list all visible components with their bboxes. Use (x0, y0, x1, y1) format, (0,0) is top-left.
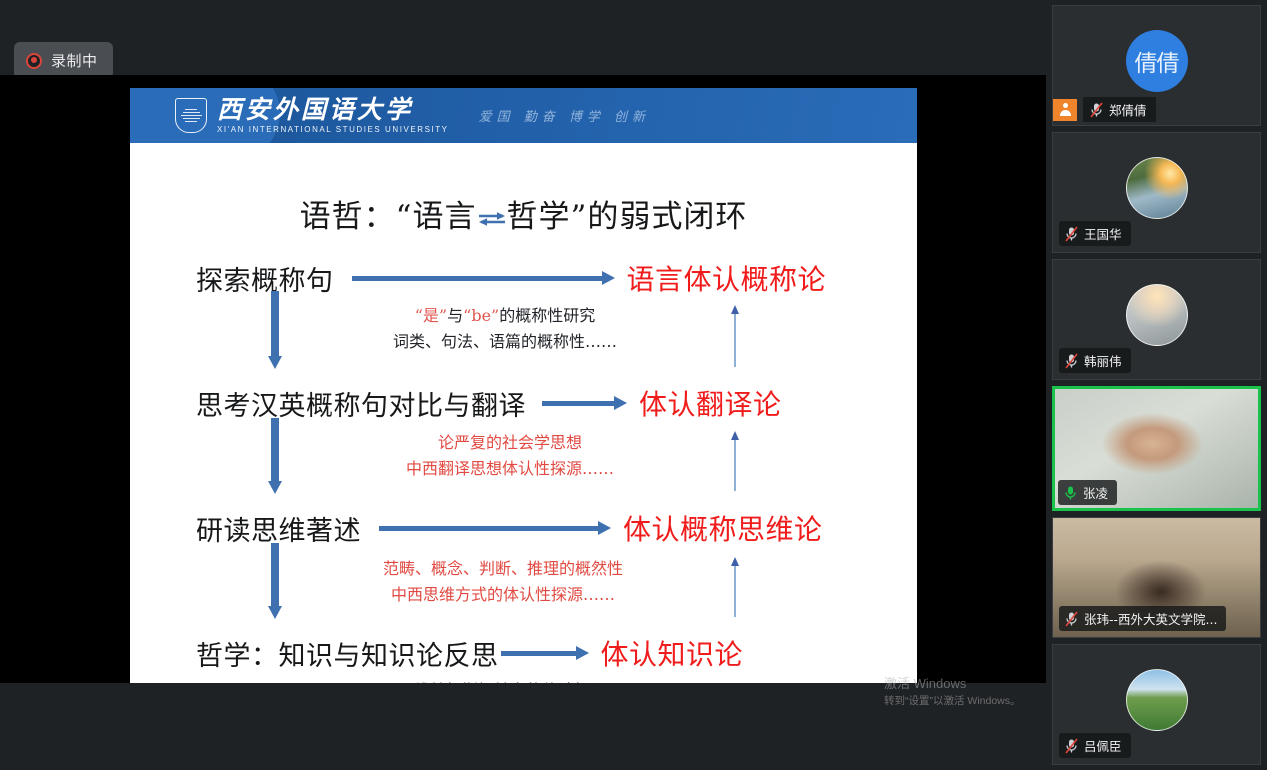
annotation-note-1: “是”与“be”的概称性研究 词类、句法、语篇的概称性…… (355, 303, 655, 356)
stage-label-3: 研读思维著述 (196, 509, 361, 548)
participant-namebar: 郑倩倩 (1053, 94, 1165, 125)
flow-arrow-right-3 (379, 521, 611, 535)
participant-tile-lvpeichen[interactable]: 吕佩臣 (1052, 644, 1261, 765)
watermark-line-2: 转到“设置”以激活 Windows。 (884, 694, 1021, 709)
note-part: “是” (415, 306, 447, 325)
diagram-row-3: 研读思维著述 体认概称思维论 (196, 508, 823, 548)
mic-muted-icon[interactable] (1065, 226, 1078, 242)
slide-title-before: 语哲：“语言 (300, 199, 477, 235)
participant-namebar: 韩丽伟 (1059, 348, 1131, 373)
recording-label: 录制中 (51, 50, 98, 71)
participant-name: 张玮--西外大英文学院... (1084, 609, 1217, 628)
mic-muted-icon[interactable] (1065, 611, 1078, 627)
stage-label-1: 探索概称句 (196, 259, 334, 298)
diagram-row-4: 哲学：知识与知识论反思 体认知识论 (196, 633, 743, 673)
participant-name: 郑倩倩 (1109, 100, 1147, 119)
host-badge-icon (1053, 99, 1077, 121)
result-label-1: 语言体认概称论 (627, 258, 827, 298)
diagram-row-1: 探索概称句 语言体认概称论 (196, 258, 826, 298)
flow-arrow-down-3 (268, 543, 282, 619)
flow-arrow-up-2 (731, 431, 740, 491)
slide-title: 语哲：“语言 哲学”的弱式闭环 (130, 191, 917, 236)
recording-badge[interactable]: 录制中 (14, 42, 113, 79)
result-label-4: 体认知识论 (601, 633, 744, 673)
slide-header-band: 西安外国语大学 XI'AN INTERNATIONAL STUDIES UNIV… (130, 88, 917, 143)
note-line: 中西翻译思想体认性探源…… (365, 456, 655, 482)
annotation-note-3: 范畴、概念、判断、推理的概然性 中西思维方式的体认性探源…… (348, 556, 658, 609)
flow-arrow-right-1 (352, 271, 615, 285)
mic-muted-icon[interactable] (1065, 353, 1078, 369)
participant-rail[interactable]: 倩倩 郑倩倩 (1046, 0, 1267, 770)
flow-arrow-right-4 (501, 646, 589, 660)
participant-namebar: 王国华 (1059, 221, 1131, 246)
mic-muted-icon[interactable] (1090, 102, 1103, 118)
flow-arrow-up-1 (731, 305, 740, 367)
participant-name: 吕佩臣 (1084, 736, 1122, 755)
shared-screen-stage[interactable]: 西安外国语大学 XI'AN INTERNATIONAL STUDIES UNIV… (0, 75, 1046, 683)
participant-tile-zhengqianqian[interactable]: 倩倩 郑倩倩 (1052, 5, 1261, 126)
university-name-en: XI'AN INTERNATIONAL STUDIES UNIVERSITY (217, 126, 449, 134)
note-part: “be” (463, 306, 499, 325)
participant-tile-wangguohua[interactable]: 王国华 (1052, 132, 1261, 253)
participant-tile-zhangling[interactable]: 张凌 (1052, 386, 1261, 511)
note-line: 词类、句法、语篇的概称性…… (355, 329, 655, 355)
record-dot-icon (26, 53, 42, 69)
slide-body: 语哲：“语言 哲学”的弱式闭环 探索概称句 (130, 143, 917, 683)
participant-name: 王国华 (1084, 224, 1122, 243)
participant-namebar: 吕佩臣 (1059, 733, 1131, 758)
presentation-slide: 西安外国语大学 XI'AN INTERNATIONAL STUDIES UNIV… (130, 88, 917, 683)
university-name-cn: 西安外国语大学 (217, 97, 449, 122)
result-label-2: 体认翻译论 (639, 383, 782, 423)
bidirectional-arrow-icon (477, 211, 507, 227)
flow-arrow-down-1 (268, 291, 282, 369)
flow-arrow-right-2 (542, 396, 627, 410)
note-line: 中西思维方式的体认性探源…… (348, 582, 658, 608)
mic-muted-icon[interactable] (1065, 738, 1078, 754)
note-part: 的概称性研究 (499, 306, 595, 325)
flow-arrow-up-3 (731, 557, 740, 617)
avatar (1126, 669, 1188, 731)
annotation-note-2: 论严复的社会学思想 中西翻译思想体认性探源…… (365, 430, 655, 483)
participant-tile-hanliwei[interactable]: 韩丽伟 (1052, 259, 1261, 380)
note-part: 与 (447, 306, 463, 325)
university-crest-icon (175, 98, 207, 133)
result-label-3: 体认概称思维论 (623, 508, 823, 548)
mic-active-icon[interactable] (1064, 485, 1077, 501)
participant-name: 韩丽伟 (1084, 351, 1122, 370)
avatar: 倩倩 (1126, 30, 1188, 92)
annotation-note-4: 维特根斯坦转向的体认根源 中西哲学体认性初探…… (365, 678, 655, 683)
meeting-window: 录制中 西安外国语大学 XI'AN INTERNATIONAL STUDIES … (0, 0, 1267, 770)
note-line: “是”与“be”的概称性研究 (355, 303, 655, 329)
note-line: 维特根斯坦转向的体认根源 (365, 678, 655, 683)
university-motto: 爱国 勤奋 博学 创新 (479, 106, 650, 125)
participant-namebar: 张玮--西外大英文学院... (1059, 606, 1226, 631)
slide-title-after: 哲学”的弱式闭环 (507, 199, 748, 235)
stage-label-2: 思考汉英概称句对比与翻译 (196, 384, 526, 423)
stage-label-4: 哲学：知识与知识论反思 (196, 634, 499, 673)
participant-namebar: 张凌 (1058, 480, 1117, 505)
diagram-row-2: 思考汉英概称句对比与翻译 体认翻译论 (196, 383, 782, 423)
participant-name: 张凌 (1083, 483, 1108, 502)
flow-arrow-down-2 (268, 418, 282, 494)
participant-tile-zhangwei[interactable]: 张玮--西外大英文学院... (1052, 517, 1261, 638)
note-line: 论严复的社会学思想 (365, 430, 655, 456)
avatar (1126, 284, 1188, 346)
avatar (1126, 157, 1188, 219)
note-line: 范畴、概念、判断、推理的概然性 (348, 556, 658, 582)
